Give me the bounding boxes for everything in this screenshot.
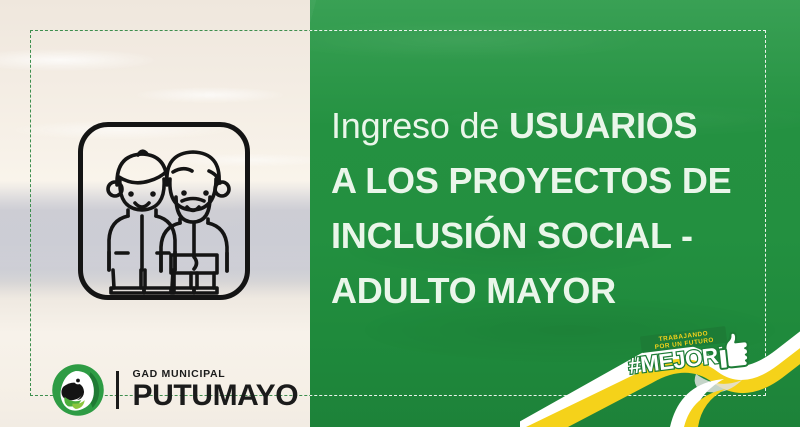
logo-text-gad-municipal: GAD MUNICIPAL	[133, 369, 299, 380]
campaign-banner: Ingreso de USUARIOS A LOS PROYECTOS DE I…	[0, 0, 800, 427]
elderly-couple-icon-frame	[78, 122, 250, 300]
headline-line-1-light: Ingreso de	[331, 105, 509, 146]
headline-line-1: Ingreso de USUARIOS	[331, 98, 771, 153]
gad-municipal-logo: GAD MUNICIPAL PUTUMAYO	[50, 362, 298, 418]
mejor-campaign-badge: TRABAJANDO POR UN FUTURO #MEJOR!	[620, 326, 760, 380]
headline-line-2: A LOS PROYECTOS DE	[331, 153, 771, 208]
headline-line-1-bold: USUARIOS	[509, 105, 697, 146]
headline-line-3: INCLUSIÓN SOCIAL -	[331, 208, 771, 263]
headline: Ingreso de USUARIOS A LOS PROYECTOS DE I…	[331, 98, 771, 318]
logo-divider	[116, 371, 119, 409]
elderly-couple-icon	[83, 127, 245, 295]
logo-wordmark: GAD MUNICIPAL PUTUMAYO	[133, 369, 299, 412]
parrot-head-logo-mark	[50, 362, 106, 418]
logo-text-putumayo: PUTUMAYO	[133, 381, 299, 411]
